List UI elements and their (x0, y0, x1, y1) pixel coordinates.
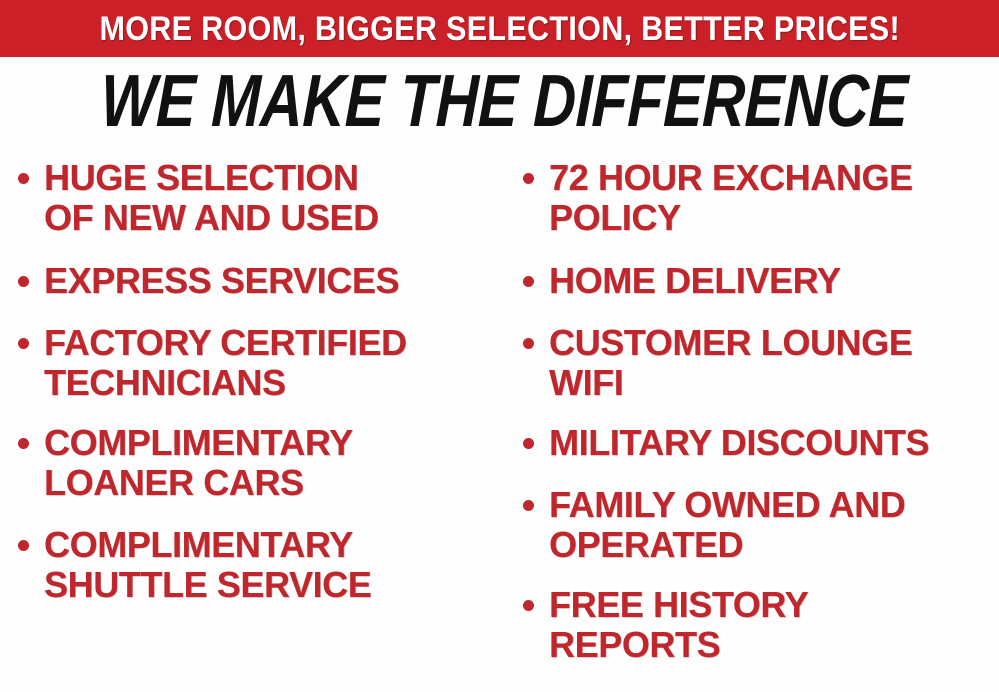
bullet-icon (18, 276, 29, 287)
bullet-icon (18, 540, 29, 551)
list-item: MILITARY DISCOUNTS (523, 423, 999, 463)
list-item: COMPLIMENTARY SHUTTLE SERVICE (18, 525, 505, 605)
benefit-label: COMPLIMENTARY SHUTTLE SERVICE (44, 525, 371, 605)
list-item: FREE HISTORY REPORTS (523, 585, 999, 665)
bullet-icon (523, 500, 534, 511)
benefits-columns: HUGE SELECTION OF NEW AND USED EXPRESS S… (0, 158, 999, 692)
benefit-label: EXPRESS SERVICES (44, 261, 399, 301)
promotional-banner: MORE ROOM, BIGGER SELECTION, BETTER PRIC… (0, 0, 999, 692)
list-item: CUSTOMER LOUNGE WIFI (523, 323, 999, 403)
list-item: COMPLIMENTARY LOANER CARS (18, 423, 505, 503)
list-item: EXPRESS SERVICES (18, 261, 505, 301)
page-title: WE MAKE THE DIFFERENCE (100, 62, 909, 140)
benefit-label: HOME DELIVERY (549, 261, 841, 301)
bullet-icon (523, 600, 534, 611)
bullet-icon (18, 173, 29, 184)
bullet-icon (18, 438, 29, 449)
list-item: 72 HOUR EXCHANGE POLICY (523, 158, 999, 238)
benefit-label: COMPLIMENTARY LOANER CARS (44, 423, 353, 503)
benefit-label: MILITARY DISCOUNTS (549, 423, 929, 463)
benefit-label: HUGE SELECTION OF NEW AND USED (44, 158, 379, 238)
benefit-label: FAMILY OWNED AND OPERATED (549, 485, 905, 565)
bullet-icon (523, 438, 534, 449)
benefit-label: CUSTOMER LOUNGE WIFI (549, 323, 912, 403)
benefit-label: FACTORY CERTIFIED TECHNICIANS (44, 323, 407, 403)
bullet-icon (523, 173, 534, 184)
bullet-icon (18, 338, 29, 349)
benefits-column-right: 72 HOUR EXCHANGE POLICY HOME DELIVERY CU… (505, 158, 999, 689)
benefits-column-left: HUGE SELECTION OF NEW AND USED EXPRESS S… (0, 158, 505, 629)
list-item: FAMILY OWNED AND OPERATED (523, 485, 999, 565)
bullet-icon (523, 276, 534, 287)
benefit-label: FREE HISTORY REPORTS (549, 585, 808, 665)
top-ribbon: MORE ROOM, BIGGER SELECTION, BETTER PRIC… (0, 0, 999, 57)
list-item: HOME DELIVERY (523, 261, 999, 301)
list-item: FACTORY CERTIFIED TECHNICIANS (18, 323, 505, 403)
bullet-icon (523, 338, 534, 349)
list-item: HUGE SELECTION OF NEW AND USED (18, 158, 505, 238)
headline-container: WE MAKE THE DIFFERENCE (0, 62, 999, 140)
ribbon-tagline: MORE ROOM, BIGGER SELECTION, BETTER PRIC… (99, 12, 899, 46)
benefit-label: 72 HOUR EXCHANGE POLICY (549, 158, 913, 238)
